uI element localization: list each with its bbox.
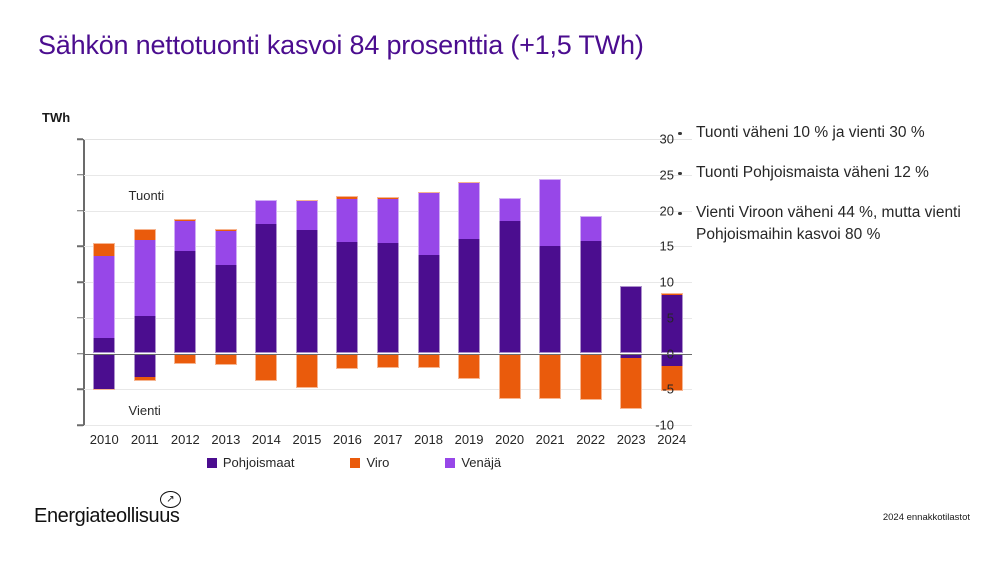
- bar-segment[interactable]: [661, 293, 683, 295]
- bar-segment[interactable]: [93, 243, 115, 256]
- x-axis-tick-label: 2019: [455, 432, 484, 447]
- bar-segment[interactable]: [93, 354, 115, 389]
- x-axis-tick-label: 2023: [617, 432, 646, 447]
- bar-segment[interactable]: [539, 354, 561, 400]
- y-axis-tick-mark: [77, 317, 83, 319]
- x-axis-tick-label: 2024: [657, 432, 686, 447]
- bar-segment[interactable]: [458, 182, 480, 184]
- legend-label: Viro: [366, 455, 389, 470]
- bar-segment[interactable]: [134, 240, 156, 317]
- bar-segment[interactable]: [134, 316, 156, 353]
- y-axis-tick-label: 20: [632, 203, 674, 218]
- x-axis-tick-label: 2012: [171, 432, 200, 447]
- bar-segment[interactable]: [336, 354, 358, 370]
- bullet-dot-icon: [678, 132, 682, 136]
- slide-root: Sähkön nettotuonti kasvoi 84 prosenttia …: [0, 0, 1000, 580]
- bar-segment[interactable]: [174, 354, 196, 364]
- bar-group[interactable]: [418, 139, 440, 425]
- bar-segment[interactable]: [296, 354, 318, 388]
- legend-item[interactable]: Venäjä: [445, 455, 501, 470]
- legend-label: Venäjä: [461, 455, 501, 470]
- bar-group[interactable]: [93, 139, 115, 425]
- legend-label: Pohjoismaat: [223, 455, 295, 470]
- bar-group[interactable]: [174, 139, 196, 425]
- x-axis-tick-label: 2017: [374, 432, 403, 447]
- bar-segment[interactable]: [539, 246, 561, 354]
- bar-segment[interactable]: [255, 224, 277, 353]
- bar-segment[interactable]: [255, 354, 277, 381]
- bar-segment[interactable]: [499, 198, 521, 220]
- bar-segment[interactable]: [296, 200, 318, 229]
- bar-segment[interactable]: [499, 221, 521, 354]
- bar-group[interactable]: [134, 139, 156, 425]
- bar-segment[interactable]: [174, 219, 196, 221]
- bar-group[interactable]: [215, 139, 237, 425]
- legend-swatch-icon: [445, 458, 455, 468]
- legend-item[interactable]: Pohjoismaat: [207, 455, 295, 470]
- bar-segment[interactable]: [93, 256, 115, 339]
- bar-segment[interactable]: [336, 199, 358, 242]
- bar-group[interactable]: [499, 139, 521, 425]
- annotation-vienti: Vienti: [129, 403, 161, 418]
- bar-segment[interactable]: [418, 192, 440, 194]
- legend-item[interactable]: Viro: [350, 455, 389, 470]
- x-axis-tick-label: 2016: [333, 432, 362, 447]
- bar-segment[interactable]: [580, 354, 602, 400]
- bar-segment[interactable]: [336, 242, 358, 354]
- plot-area: Tuonti Vienti: [84, 139, 692, 425]
- y-axis-tick-label: 10: [632, 275, 674, 290]
- bullet-item: Tuonti Pohjoismaista väheni 12 %: [676, 162, 976, 184]
- bar-segment[interactable]: [134, 229, 156, 240]
- bar-segment[interactable]: [134, 354, 156, 378]
- y-axis-tick-label: -10: [632, 418, 674, 433]
- bar-segment[interactable]: [93, 389, 115, 391]
- chart-container: TWh Tuonti Vienti -10-5051015202530 2010…: [34, 110, 674, 480]
- bar-segment[interactable]: [215, 229, 237, 231]
- bar-group[interactable]: [539, 139, 561, 425]
- y-axis-tick-mark: [77, 424, 83, 426]
- y-axis-tick-label: 25: [632, 167, 674, 182]
- bar-segment[interactable]: [93, 338, 115, 353]
- bullet-text: Tuonti Pohjoismaista väheni 12 %: [696, 164, 929, 181]
- y-axis-tick-mark: [77, 281, 83, 283]
- y-axis-tick-label: -5: [632, 382, 674, 397]
- legend-swatch-icon: [350, 458, 360, 468]
- bar-segment[interactable]: [377, 197, 399, 199]
- bar-segment[interactable]: [458, 354, 480, 380]
- bar-segment[interactable]: [296, 230, 318, 354]
- bar-segment[interactable]: [134, 377, 156, 381]
- bar-segment[interactable]: [580, 241, 602, 353]
- x-axis-tick-label: 2010: [90, 432, 119, 447]
- bar-segment[interactable]: [215, 354, 237, 365]
- bar-segment[interactable]: [418, 354, 440, 368]
- x-axis-tick-label: 2011: [131, 432, 159, 447]
- x-axis-tick-label: 2013: [211, 432, 240, 447]
- bar-group[interactable]: [580, 139, 602, 425]
- y-axis-tick-label: 30: [632, 132, 674, 147]
- y-axis-tick-mark: [77, 246, 83, 248]
- bar-segment[interactable]: [215, 231, 237, 265]
- bar-segment[interactable]: [499, 354, 521, 399]
- x-axis-tick-label: 2018: [414, 432, 443, 447]
- bar-segment[interactable]: [255, 200, 277, 224]
- bar-group[interactable]: [336, 139, 358, 425]
- bar-segment[interactable]: [296, 200, 318, 202]
- y-axis-tick-label: 15: [632, 239, 674, 254]
- y-axis-tick-mark: [77, 138, 83, 140]
- x-axis-tick-label: 2014: [252, 432, 281, 447]
- bar-group[interactable]: [255, 139, 277, 425]
- bullet-text: Tuonti väheni 10 % ja vienti 30 %: [696, 124, 925, 141]
- y-axis-tick-mark: [77, 353, 83, 355]
- bullet-item: Tuonti väheni 10 % ja vienti 30 %: [676, 122, 976, 144]
- bar-segment[interactable]: [458, 239, 480, 353]
- x-axis-tick-label: 2015: [292, 432, 321, 447]
- bar-segment[interactable]: [418, 255, 440, 354]
- brand-logo: Energiateollisuus ↗: [34, 505, 180, 528]
- bar-segment[interactable]: [458, 183, 480, 239]
- bar-segment[interactable]: [377, 354, 399, 368]
- logo-arrow-icon: ↗: [160, 491, 181, 508]
- x-axis-tick-label: 2020: [495, 432, 524, 447]
- bar-segment[interactable]: [580, 216, 602, 242]
- x-axis-tick-label: 2022: [576, 432, 605, 447]
- bar-segment[interactable]: [174, 251, 196, 353]
- logo-text: Energiateollisuus: [34, 505, 180, 528]
- chart-legend: PohjoismaatViroVenäjä: [34, 455, 674, 470]
- bar-segment[interactable]: [418, 193, 440, 254]
- footnote: 2024 ennakkotilastot: [883, 512, 970, 523]
- y-axis-tick-mark: [77, 389, 83, 391]
- bullet-dot-icon: [678, 212, 682, 216]
- bullet-item: Vienti Viroon väheni 44 %, mutta vienti …: [676, 202, 976, 246]
- bullet-list: Tuonti väheni 10 % ja vienti 30 %Tuonti …: [676, 122, 976, 264]
- bar-segment[interactable]: [377, 243, 399, 354]
- gridline: [84, 425, 692, 426]
- y-axis-tick-mark: [77, 210, 83, 212]
- bar-segment[interactable]: [215, 265, 237, 354]
- y-axis-tick-label: 5: [632, 310, 674, 325]
- bar-group[interactable]: [377, 139, 399, 425]
- bullet-text: Vienti Viroon väheni 44 %, mutta vienti …: [696, 204, 961, 243]
- x-axis-tick-label: 2021: [536, 432, 565, 447]
- legend-swatch-icon: [207, 458, 217, 468]
- bar-group[interactable]: [458, 139, 480, 425]
- bar-segment[interactable]: [539, 179, 561, 245]
- y-axis-unit-label: TWh: [42, 110, 70, 125]
- bar-group[interactable]: [296, 139, 318, 425]
- bar-segment[interactable]: [336, 196, 358, 199]
- page-title: Sähkön nettotuonti kasvoi 84 prosenttia …: [38, 30, 644, 61]
- bar-segment[interactable]: [174, 221, 196, 252]
- bar-segment[interactable]: [377, 199, 399, 243]
- zero-line: [84, 354, 692, 356]
- y-axis-tick-mark: [77, 174, 83, 176]
- annotation-tuonti: Tuonti: [129, 188, 165, 203]
- bullet-dot-icon: [678, 172, 682, 176]
